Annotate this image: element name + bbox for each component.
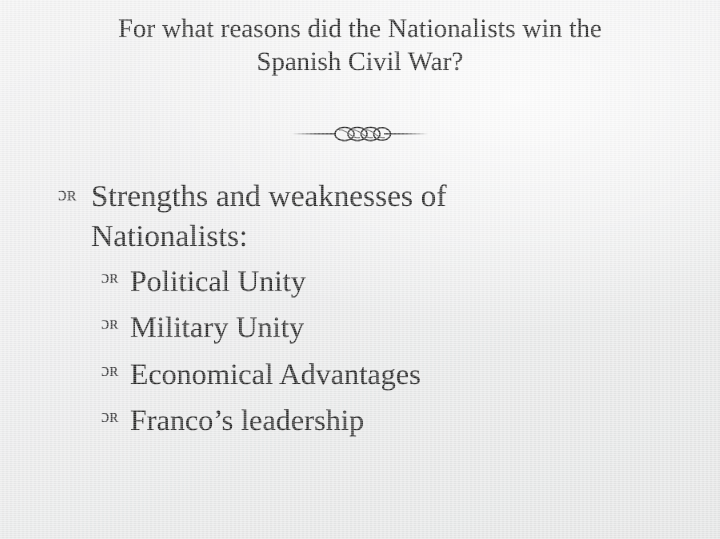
bullet-item-economical-advantages: ɔʀ Economical Advantages [0,352,720,399]
bullet-marker-icon: ɔʀ [101,407,130,426]
bullet-marker-icon: ɔʀ [101,314,130,333]
presentation-slide: For what reasons did the Nationalists wi… [0,0,720,539]
bullet-item-military-unity: ɔʀ Military Unity [0,305,720,352]
bullet-item-political-unity: ɔʀ Political Unity [0,259,720,306]
slide-title: For what reasons did the Nationalists wi… [0,12,720,79]
bullet-label: Franco’s leadership [130,398,720,445]
bullet-item-franco-leadership: ɔʀ Franco’s leadership [0,398,720,445]
title-divider [0,121,720,147]
bullet-label: Military Unity [130,305,720,352]
bullet-marker-icon: ɔʀ [101,268,130,287]
ornamental-knot-divider-icon [292,123,428,145]
bullet-label: Economical Advantages [130,352,720,399]
bullet-marker-icon: ɔʀ [58,184,91,204]
bullet-item-strengths-and-weaknesses: ɔʀ Strengths and weaknesses of Nationali… [0,176,720,257]
bullet-marker-icon: ɔʀ [101,361,130,380]
slide-title-line-1: For what reasons did the Nationalists wi… [0,12,720,45]
slide-bullet-list: ɔʀ Strengths and weaknesses of Nationali… [0,176,720,445]
bullet-label: Strengths and weaknesses of Nationalists… [91,176,561,257]
bullet-label: Political Unity [130,259,720,306]
slide-title-line-2: Spanish Civil War? [0,45,720,78]
